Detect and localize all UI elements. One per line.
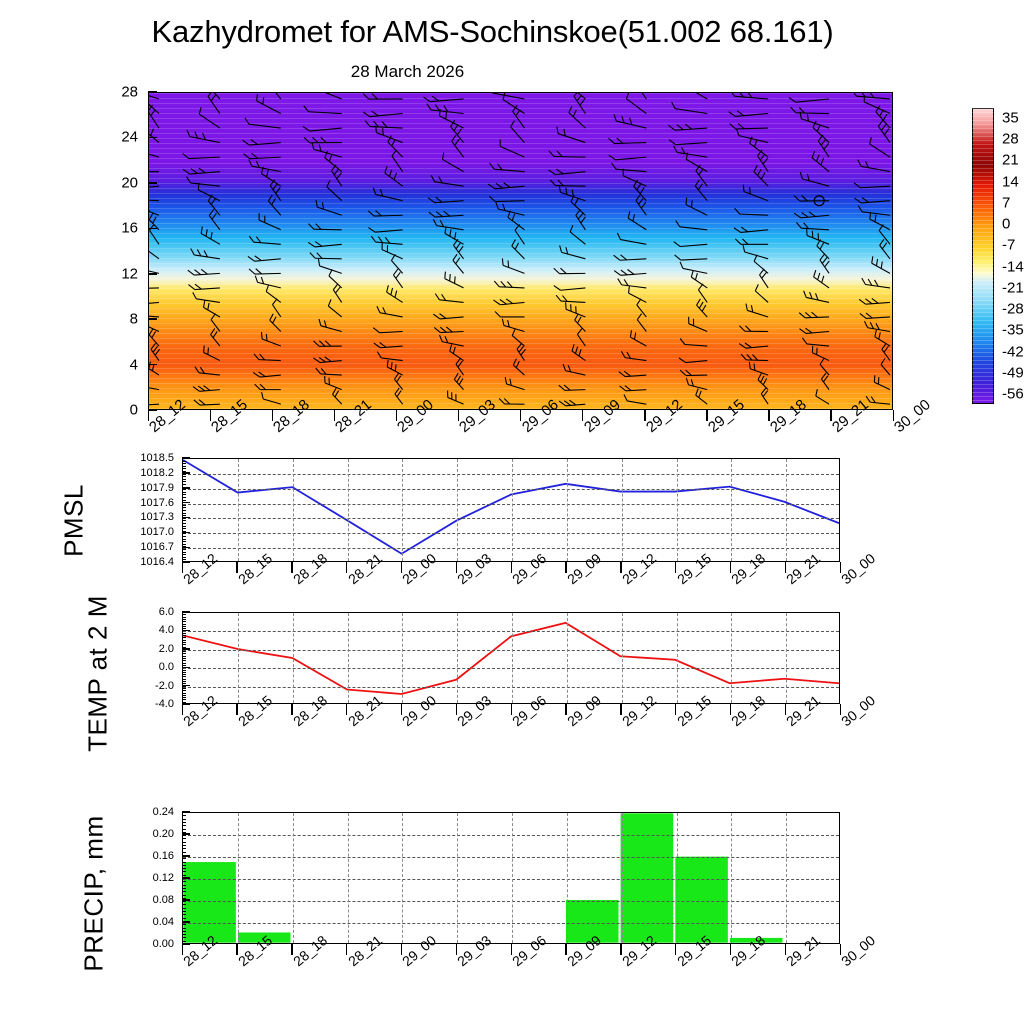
colorbar-label-21: 21 (1002, 152, 1019, 169)
xtick-30_00: 30_00 (838, 932, 878, 969)
minor-tick (182, 505, 186, 506)
minor-tick (182, 497, 186, 498)
minor-tick (182, 829, 186, 830)
gridline-v (786, 459, 787, 561)
gridline-v (293, 459, 294, 561)
gridline-h (183, 533, 839, 534)
gridline-h (183, 548, 839, 549)
ytick-24: 24 (121, 129, 138, 146)
xtick-30_00: 30_00 (891, 396, 934, 436)
minor-tick (182, 474, 186, 475)
minor-tick (182, 559, 186, 560)
minor-tick (182, 531, 186, 532)
minor-tick (182, 852, 186, 853)
minor-tick (182, 647, 186, 648)
ytick-0.0: 0.0 (159, 661, 174, 673)
gridline-v (731, 613, 732, 703)
minor-tick (182, 688, 186, 689)
minor-tick (182, 924, 186, 925)
minor-tick (182, 937, 186, 938)
minor-tick (182, 539, 186, 540)
minor-tick (182, 487, 186, 488)
tick-mark (148, 137, 157, 139)
minor-tick (182, 507, 186, 508)
minor-tick (182, 523, 186, 524)
minor-tick (182, 642, 186, 643)
gridline-h (183, 489, 839, 490)
gridline-v (457, 613, 458, 703)
gridline-v (293, 613, 294, 703)
minor-tick (182, 518, 186, 519)
minor-tick (182, 656, 186, 657)
minor-tick (182, 549, 186, 550)
ytick-0.20: 0.20 (153, 828, 174, 840)
colorbar-label-28: 28 (1002, 131, 1019, 148)
minor-tick (182, 676, 186, 677)
minor-tick (182, 898, 186, 899)
minor-tick (182, 630, 186, 631)
ytick-20: 20 (121, 174, 138, 191)
minor-tick (182, 858, 186, 859)
minor-tick (182, 819, 186, 820)
xtick-30_00: 30_00 (838, 550, 878, 587)
minor-tick (182, 848, 186, 849)
tick-mark (148, 228, 157, 230)
minor-tick (182, 674, 186, 675)
tick-mark (148, 91, 157, 93)
minor-tick (182, 862, 186, 863)
minor-tick (182, 479, 186, 480)
minor-tick (182, 658, 186, 659)
tick-mark (148, 364, 157, 366)
colorbar-label--42: -42 (1002, 343, 1024, 360)
minor-tick (182, 941, 186, 942)
ytick-28: 28 (121, 84, 138, 101)
ytick-0.00: 0.00 (153, 938, 174, 950)
gridline-h (183, 835, 839, 836)
minor-tick (182, 619, 186, 620)
minor-tick (182, 672, 186, 673)
gridline-h (183, 504, 839, 505)
minor-tick (182, 681, 186, 682)
gridline-v (622, 613, 623, 703)
ytick-0.08: 0.08 (153, 894, 174, 906)
minor-tick (182, 895, 186, 896)
colorbar-label--56: -56 (1002, 386, 1024, 403)
minor-tick (182, 881, 186, 882)
minor-tick (182, 835, 186, 836)
minor-tick (182, 690, 186, 691)
minor-tick (182, 885, 186, 886)
colorbar-label--7: -7 (1002, 237, 1015, 254)
tick-mark (148, 273, 157, 275)
minor-tick (182, 513, 186, 514)
ytick-4.0: 4.0 (159, 624, 174, 636)
minor-tick (182, 875, 186, 876)
vertical-cross-section-plot (148, 92, 893, 410)
minor-tick (182, 812, 186, 813)
minor-tick (182, 481, 186, 482)
gridline-v (677, 459, 678, 561)
ytick-0: 0 (130, 402, 138, 419)
colorbar-label-7: 7 (1002, 194, 1010, 211)
gridline-v (731, 459, 732, 561)
minor-tick (182, 520, 186, 521)
minor-tick (182, 838, 186, 839)
gridline-v (512, 813, 513, 943)
pmsl-chart (182, 458, 840, 562)
minor-tick (182, 815, 186, 816)
minor-tick (182, 868, 186, 869)
gridline-v (238, 613, 239, 703)
minor-tick (182, 695, 186, 696)
minor-tick (182, 628, 186, 629)
gridline-v (512, 459, 513, 561)
minor-tick (182, 541, 186, 542)
minor-tick (182, 461, 186, 462)
minor-tick (182, 468, 186, 469)
gridline-v (567, 613, 568, 703)
ytick-8: 8 (130, 311, 138, 328)
ytick-1016.7: 1016.7 (140, 541, 174, 553)
minor-tick (182, 665, 186, 666)
gridline-v (348, 613, 349, 703)
ytick--4.0: -4.0 (155, 698, 174, 710)
minor-tick (182, 463, 186, 464)
gridline-v (622, 813, 623, 943)
minor-tick (182, 557, 186, 558)
gridline-h (183, 879, 839, 880)
minor-tick (182, 697, 186, 698)
minor-tick (182, 500, 186, 501)
minor-tick (182, 888, 186, 889)
gridline-v (786, 613, 787, 703)
gridline-v (677, 813, 678, 943)
ytick-1017.9: 1017.9 (140, 482, 174, 494)
minor-tick (182, 904, 186, 905)
colorbar-label--14: -14 (1002, 258, 1024, 275)
ytick-1017.6: 1017.6 (140, 497, 174, 509)
xtick-30_00: 30_00 (838, 692, 878, 729)
colorbar-label-14: 14 (1002, 173, 1019, 190)
gridline-h (183, 474, 839, 475)
minor-tick (182, 679, 186, 680)
meteogram-page: Kazhydromet for AMS-Sochinskoe(51.002 68… (0, 0, 1024, 1024)
ytick--2.0: -2.0 (155, 680, 174, 692)
ytick-0.16: 0.16 (153, 850, 174, 862)
ytick-0.04: 0.04 (153, 916, 174, 928)
temp-chart (182, 612, 840, 704)
minor-tick (182, 476, 186, 477)
minor-tick (182, 901, 186, 902)
minor-tick (182, 471, 186, 472)
minor-tick (182, 842, 186, 843)
page-subtitle: 28 March 2026 (0, 62, 815, 82)
gridline-v (512, 613, 513, 703)
minor-tick (182, 536, 186, 537)
wind-barbs (149, 93, 892, 410)
minor-tick (182, 832, 186, 833)
ytick-1018.5: 1018.5 (140, 452, 174, 464)
ytick-12: 12 (121, 265, 138, 282)
minor-tick (182, 633, 186, 634)
minor-tick (182, 934, 186, 935)
minor-tick (182, 651, 186, 652)
minor-tick (182, 931, 186, 932)
gridline-h (183, 650, 839, 651)
gridline-h (183, 923, 839, 924)
minor-tick (182, 865, 186, 866)
gridline-v (457, 813, 458, 943)
minor-tick (182, 702, 186, 703)
ytick-2.0: 2.0 (159, 643, 174, 655)
ytick-1016.4: 1016.4 (140, 556, 174, 568)
temp-line (183, 613, 839, 703)
gridline-v (238, 813, 239, 943)
gridline-h (183, 857, 839, 858)
ytick-1017.0: 1017.0 (140, 526, 174, 538)
precip-axis-label: PRECIP, mm (79, 764, 110, 1024)
colorbar-label--21: -21 (1002, 279, 1024, 296)
tick-mark (148, 409, 157, 411)
minor-tick (182, 621, 186, 622)
minor-tick (182, 686, 186, 687)
tick-mark (148, 318, 157, 320)
minor-tick (182, 825, 186, 826)
minor-tick (182, 878, 186, 879)
gridline-v (786, 813, 787, 943)
minor-tick (182, 670, 186, 671)
minor-tick (182, 693, 186, 694)
minor-tick (182, 484, 186, 485)
minor-tick (182, 891, 186, 892)
precip-chart (182, 812, 840, 944)
minor-tick (182, 908, 186, 909)
minor-tick (182, 528, 186, 529)
minor-tick (182, 660, 186, 661)
gridline-h (183, 901, 839, 902)
minor-tick (182, 653, 186, 654)
minor-tick (182, 526, 186, 527)
gridline-v (238, 459, 239, 561)
gridline-v (348, 813, 349, 943)
gridline-h (183, 631, 839, 632)
minor-tick (182, 614, 186, 615)
minor-tick (182, 492, 186, 493)
minor-tick (182, 822, 186, 823)
minor-tick (182, 663, 186, 664)
gridline-v (567, 459, 568, 561)
minor-tick (182, 533, 186, 534)
tick-mark (148, 182, 157, 184)
minor-tick (182, 918, 186, 919)
minor-tick (182, 617, 186, 618)
minor-tick (182, 667, 186, 668)
minor-tick (182, 921, 186, 922)
ytick-0.12: 0.12 (153, 872, 174, 884)
gridline-h (183, 668, 839, 669)
minor-tick (182, 552, 186, 553)
gridline-h (183, 518, 839, 519)
page-title: Kazhydromet for AMS-Sochinskoe(51.002 68… (0, 14, 985, 50)
gridline-v (731, 813, 732, 943)
minor-tick (182, 649, 186, 650)
minor-tick (182, 494, 186, 495)
minor-tick (182, 515, 186, 516)
colorbar-label--49: -49 (1002, 364, 1024, 381)
minor-tick (182, 914, 186, 915)
colorbar-label-0: 0 (1002, 216, 1010, 233)
minor-tick (182, 644, 186, 645)
minor-tick (182, 626, 186, 627)
minor-tick (182, 612, 186, 613)
minor-tick (182, 502, 186, 503)
minor-tick (182, 699, 186, 700)
gridline-h (183, 687, 839, 688)
minor-tick (182, 510, 186, 511)
minor-tick (182, 546, 186, 547)
minor-tick (182, 554, 186, 555)
minor-tick (182, 683, 186, 684)
colorbar-label--28: -28 (1002, 301, 1024, 318)
minor-tick (182, 624, 186, 625)
ytick-1017.3: 1017.3 (140, 511, 174, 523)
temp-axis-label: TEMP at 2 M (83, 554, 114, 794)
colorbar-label-35: 35 (1002, 110, 1019, 127)
gridline-v (348, 459, 349, 561)
minor-tick (182, 637, 186, 638)
ytick-4: 4 (130, 356, 138, 373)
minor-tick (182, 928, 186, 929)
gridline-v (622, 459, 623, 561)
gridline-v (567, 813, 568, 943)
colorbar-label--35: -35 (1002, 322, 1024, 339)
ytick-1018.2: 1018.2 (140, 467, 174, 479)
minor-tick (182, 489, 186, 490)
ytick-0.24: 0.24 (153, 806, 174, 818)
minor-tick (182, 640, 186, 641)
minor-tick (182, 845, 186, 846)
gridline-v (677, 613, 678, 703)
ytick-6.0: 6.0 (159, 606, 174, 618)
minor-tick (182, 911, 186, 912)
minor-tick (182, 466, 186, 467)
gridline-v (402, 813, 403, 943)
gridline-v (402, 459, 403, 561)
ytick-16: 16 (121, 220, 138, 237)
gridline-v (457, 459, 458, 561)
gridline-v (402, 613, 403, 703)
gridline-v (293, 813, 294, 943)
minor-tick (182, 635, 186, 636)
minor-tick (182, 855, 186, 856)
minor-tick (182, 544, 186, 545)
minor-tick (182, 871, 186, 872)
colorbar-bands (972, 108, 994, 404)
minor-tick (182, 458, 186, 459)
